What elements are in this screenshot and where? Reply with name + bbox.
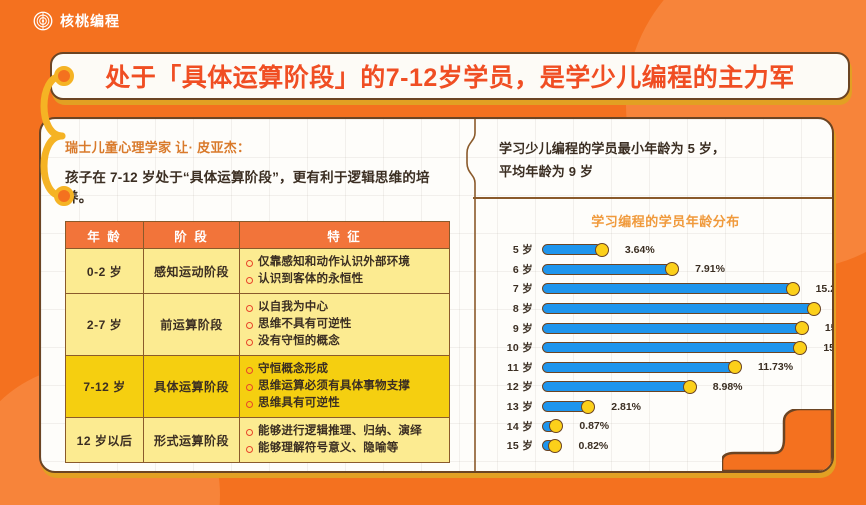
bar-category-label: 6 岁 <box>499 262 533 277</box>
bar-category-label: 12 岁 <box>499 379 533 394</box>
age-distribution-chart: 5 岁3.64%6 岁7.91%7 岁15.23%8 岁16.53%9 岁15.… <box>473 240 834 456</box>
feature-item: 守恒概念形成 <box>246 361 443 378</box>
chart-bar-row: 10 岁15.7% <box>499 338 834 358</box>
bar-track <box>542 342 809 353</box>
bar-fill <box>542 362 735 373</box>
stats-summary: 学习少儿编程的学员最小年龄为 5 岁， 平均年龄为 9 岁 <box>473 119 834 197</box>
bar-fill <box>542 264 672 275</box>
bar-end-knob <box>683 380 697 394</box>
chart-bar-row: 13 岁2.81% <box>499 397 834 417</box>
left-panel: 瑞士儿童心理学家 让· 皮亚杰： 孩子在 7-12 岁处于“具体运算阶段”，更有… <box>41 119 465 471</box>
cell-age: 7-12 岁 <box>66 356 144 418</box>
table-row: 0-2 岁 感知运动阶段 仅靠感知和动作认识外部环境 认识到客体的永恒性 <box>66 249 450 294</box>
brand-logo[interactable]: 核桃编程 <box>33 11 120 31</box>
cell-stage: 感知运动阶段 <box>144 249 240 294</box>
bar-end-knob <box>595 243 609 257</box>
feature-list: 仅靠感知和动作认识外部环境 认识到客体的永恒性 <box>246 254 443 288</box>
title-card: 处于「具体运算阶段」的7-12岁学员，是学少儿编程的主力军 <box>50 52 850 100</box>
bar-track <box>542 440 564 451</box>
bar-end-knob <box>795 321 809 335</box>
quote-body: 孩子在 7-12 岁处于“具体运算阶段”，更有利于逻辑思维的培养。 <box>65 166 449 206</box>
cell-stage: 前运算阶段 <box>144 294 240 356</box>
table-row: 2-7 岁 前运算阶段 以自我为中心 思维不具有可逆性 没有守恒的概念 <box>66 294 450 356</box>
feature-list: 守恒概念形成 思维运算必须有具体事物支撑 思维具有可逆性 <box>246 361 443 412</box>
bar-category-label: 5 岁 <box>499 242 533 257</box>
bar-fill <box>542 283 793 294</box>
feature-list: 以自我为中心 思维不具有可逆性 没有守恒的概念 <box>246 299 443 350</box>
bar-track <box>542 283 802 294</box>
walnut-spiral-icon <box>33 11 53 31</box>
bar-value-label: 11.73% <box>758 361 793 373</box>
bar-track <box>542 303 823 314</box>
cell-stage: 具体运算阶段 <box>144 356 240 418</box>
horizontal-rule <box>473 197 834 199</box>
bar-category-label: 9 岁 <box>499 321 533 336</box>
bar-fill <box>542 323 802 334</box>
bar-end-knob <box>786 282 800 296</box>
summary-line-1: 学习少儿编程的学员最小年龄为 5 岁， <box>499 137 822 160</box>
bar-value-label: 15.79% <box>825 322 834 334</box>
binder-rings-decoration <box>28 52 76 252</box>
column-header-stage: 阶 段 <box>144 222 240 249</box>
feature-item: 认识到客体的永恒性 <box>246 271 443 288</box>
bar-category-label: 8 岁 <box>499 301 533 316</box>
column-header-age: 年 龄 <box>66 222 144 249</box>
feature-item: 思维具有可逆性 <box>246 395 443 412</box>
bar-track <box>542 244 611 255</box>
piaget-stage-table: 年 龄 阶 段 特 征 0-2 岁 感知运动阶段 仅靠感知和动作认识外部环境 认… <box>65 221 450 463</box>
bar-value-label: 8.98% <box>713 381 743 393</box>
chart-title: 学习编程的学员年龄分布 <box>473 211 834 230</box>
bar-category-label: 7 岁 <box>499 281 533 296</box>
feature-item: 仅靠感知和动作认识外部环境 <box>246 254 443 271</box>
main-content-card: 瑞士儿童心理学家 让· 皮亚杰： 孩子在 7-12 岁处于“具体运算阶段”，更有… <box>39 117 834 473</box>
bar-value-label: 3.64% <box>625 244 655 256</box>
bar-track <box>542 264 681 275</box>
feature-item: 能够理解符号意义、隐喻等 <box>246 440 443 457</box>
feature-item: 思维运算必须有具体事物支撑 <box>246 378 443 395</box>
bar-end-knob <box>728 360 742 374</box>
cell-features: 以自我为中心 思维不具有可逆性 没有守恒的概念 <box>240 294 450 356</box>
bar-value-label: 0.82% <box>578 440 608 452</box>
chart-bar-row: 9 岁15.79% <box>499 318 834 338</box>
bar-end-knob <box>581 400 595 414</box>
column-header-features: 特 征 <box>240 222 450 249</box>
table-body: 0-2 岁 感知运动阶段 仅靠感知和动作认识外部环境 认识到客体的永恒性 2-7… <box>66 249 450 463</box>
cell-features: 守恒概念形成 思维运算必须有具体事物支撑 思维具有可逆性 <box>240 356 450 418</box>
bar-fill <box>542 303 814 314</box>
feature-item: 以自我为中心 <box>246 299 443 316</box>
feature-item: 没有守恒的概念 <box>246 333 443 350</box>
bar-track <box>542 362 744 373</box>
brand-name: 核桃编程 <box>60 11 120 31</box>
feature-list: 能够进行逻辑推理、归纳、演绎 能够理解符号意义、隐喻等 <box>246 423 443 457</box>
bar-category-label: 13 岁 <box>499 399 533 414</box>
page-title: 处于「具体运算阶段」的7-12岁学员，是学少儿编程的主力军 <box>105 58 795 94</box>
chart-bar-row: 7 岁15.23% <box>499 279 834 299</box>
cell-age: 12 岁以后 <box>66 418 144 463</box>
chart-bar-row: 8 岁16.53% <box>499 299 834 319</box>
bar-track <box>542 401 597 412</box>
cell-features: 仅靠感知和动作认识外部环境 认识到客体的永恒性 <box>240 249 450 294</box>
bar-track <box>542 421 565 432</box>
cell-features: 能够进行逻辑推理、归纳、演绎 能够理解符号意义、隐喻等 <box>240 418 450 463</box>
bar-end-knob <box>549 419 563 433</box>
cell-age: 0-2 岁 <box>66 249 144 294</box>
bar-category-label: 10 岁 <box>499 340 533 355</box>
bar-value-label: 0.87% <box>579 420 609 432</box>
bar-fill <box>542 342 800 353</box>
table-header-row: 年 龄 阶 段 特 征 <box>66 222 450 249</box>
bar-end-knob <box>793 341 807 355</box>
bar-value-label: 2.81% <box>611 401 641 413</box>
feature-item: 能够进行逻辑推理、归纳、演绎 <box>246 423 443 440</box>
bar-end-knob <box>665 262 679 276</box>
bar-fill <box>542 381 690 392</box>
bar-fill <box>542 244 602 255</box>
bar-category-label: 15 岁 <box>499 438 533 453</box>
feature-item: 思维不具有可逆性 <box>246 316 443 333</box>
chart-bar-row: 11 岁11.73% <box>499 358 834 378</box>
bar-category-label: 11 岁 <box>499 360 533 375</box>
bar-end-knob <box>807 302 821 316</box>
chart-bar-row: 5 岁3.64% <box>499 240 834 260</box>
chart-bar-row: 14 岁0.87% <box>499 416 834 436</box>
summary-line-2: 平均年龄为 9 岁 <box>499 160 822 183</box>
bar-track <box>542 323 811 334</box>
bar-value-label: 15.7% <box>823 342 834 354</box>
bar-value-label: 15.23% <box>816 283 834 295</box>
table-row-highlighted: 7-12 岁 具体运算阶段 守恒概念形成 思维运算必须有具体事物支撑 思维具有可… <box>66 356 450 418</box>
cell-stage: 形式运算阶段 <box>144 418 240 463</box>
bar-end-knob <box>548 439 562 453</box>
bar-category-label: 14 岁 <box>499 419 533 434</box>
right-panel: 学习少儿编程的学员最小年龄为 5 岁， 平均年龄为 9 岁 学习编程的学员年龄分… <box>473 119 834 471</box>
chart-bar-row: 6 岁7.91% <box>499 260 834 280</box>
chart-bar-row: 15 岁0.82% <box>499 436 834 456</box>
chart-bar-row: 12 岁8.98% <box>499 377 834 397</box>
bar-track <box>542 381 699 392</box>
table-row: 12 岁以后 形式运算阶段 能够进行逻辑推理、归纳、演绎 能够理解符号意义、隐喻… <box>66 418 450 463</box>
bar-value-label: 7.91% <box>695 263 725 275</box>
quote-author: 瑞士儿童心理学家 让· 皮亚杰： <box>65 137 449 156</box>
cell-age: 2-7 岁 <box>66 294 144 356</box>
